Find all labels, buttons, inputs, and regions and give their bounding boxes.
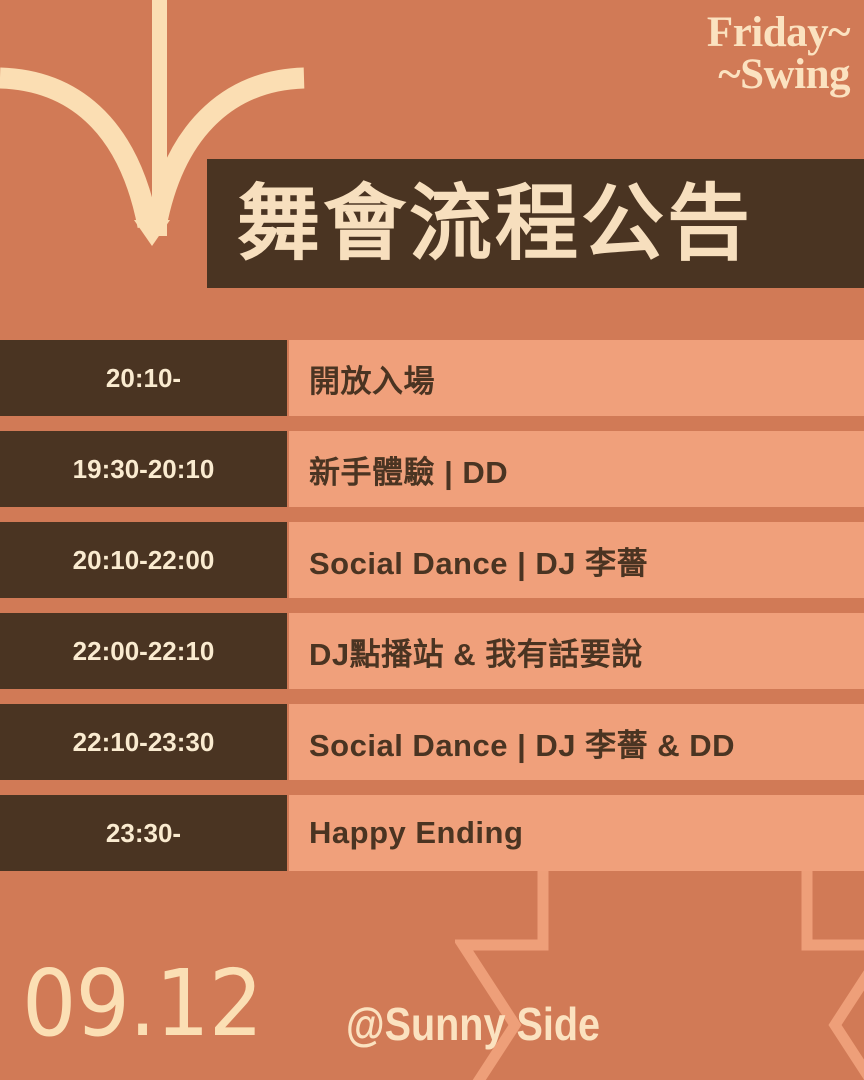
schedule-row-time: 20:10- [0, 340, 287, 416]
schedule-row-description: 新手體驗 | DD [289, 431, 864, 507]
title-banner: 舞會流程公告 [207, 159, 864, 288]
schedule-row-description: Happy Ending [289, 795, 864, 871]
schedule-row-time: 22:10-23:30 [0, 704, 287, 780]
schedule-row: 22:00-22:10 DJ點播站 & 我有話要說 [0, 613, 864, 689]
brand-logo-line1: Friday~ [707, 12, 850, 54]
schedule-row-time: 23:30- [0, 795, 287, 871]
schedule-row-time: 19:30-20:10 [0, 431, 287, 507]
page-title: 舞會流程公告 [237, 182, 753, 265]
brand-logo: Friday~ ~Swing [707, 12, 850, 95]
schedule-row-description: DJ點播站 & 我有話要說 [289, 613, 864, 689]
brand-logo-line2: ~Swing [707, 54, 850, 96]
schedule-row-description: Social Dance | DJ 李薔 [289, 522, 864, 598]
schedule-row: 19:30-20:10 新手體驗 | DD [0, 431, 864, 507]
schedule-row-time: 22:00-22:10 [0, 613, 287, 689]
poster-canvas: Friday~ ~Swing 舞會流程公告 20:10- 開放入場 19:30-… [0, 0, 864, 1080]
schedule-row: 23:30- Happy Ending [0, 795, 864, 871]
poster-footer: 09.12 @Sunny Side [0, 890, 864, 1080]
schedule-row-description: 開放入場 [289, 340, 864, 416]
event-venue: @Sunny Side [346, 1001, 600, 1047]
event-date: 09.12 [22, 958, 262, 1050]
schedule-list: 20:10- 開放入場 19:30-20:10 新手體驗 | DD 20:10-… [0, 340, 864, 886]
schedule-row-time: 20:10-22:00 [0, 522, 287, 598]
schedule-row: 20:10-22:00 Social Dance | DJ 李薔 [0, 522, 864, 598]
schedule-row: 22:10-23:30 Social Dance | DJ 李薔 & DD [0, 704, 864, 780]
schedule-row: 20:10- 開放入場 [0, 340, 864, 416]
schedule-row-description: Social Dance | DJ 李薔 & DD [289, 704, 864, 780]
